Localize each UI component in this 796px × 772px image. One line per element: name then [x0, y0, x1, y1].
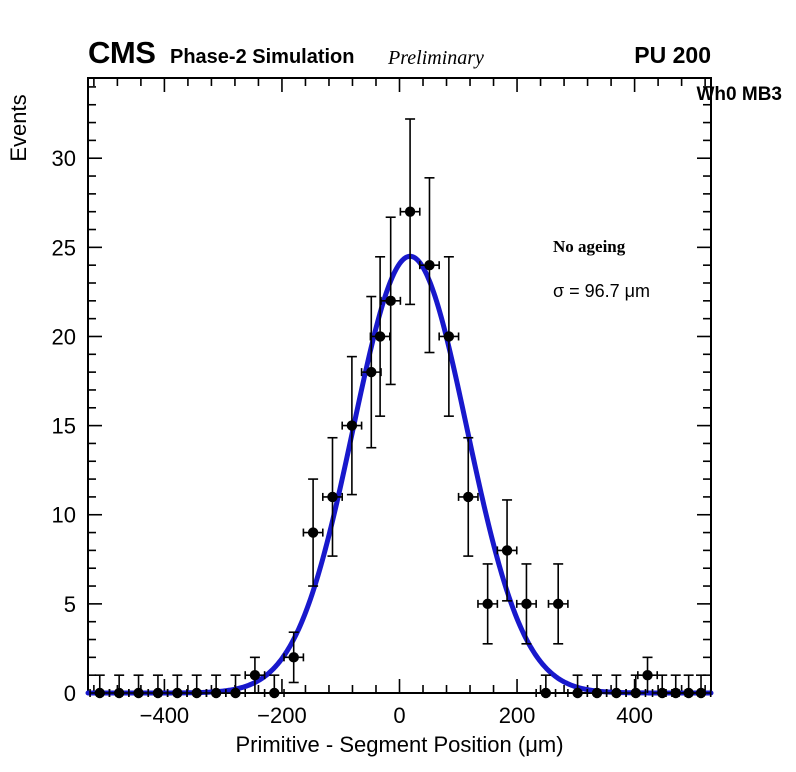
x-tick-label: 400 [616, 703, 653, 728]
y-tick-label: 0 [64, 681, 76, 706]
y-tick-label: 10 [52, 503, 76, 528]
data-points-group [90, 119, 711, 698]
data-point [439, 257, 458, 416]
y-tick-label: 5 [64, 592, 76, 617]
y-axis-title: Events [6, 68, 32, 188]
plot-frame [88, 78, 711, 693]
region-label: Wh0 MB3 [697, 84, 783, 106]
fit-curve-path [88, 256, 711, 693]
sigma-value-label: σ = 96.7 μm [553, 281, 650, 302]
x-tick-label: 0 [393, 703, 405, 728]
data-point [536, 675, 555, 698]
data-point [370, 257, 389, 416]
data-point [517, 564, 536, 644]
gaussian-fit-curve [88, 256, 711, 693]
plot-svg: −400−2000200400 051015202530 [0, 0, 796, 772]
data-point [381, 217, 400, 384]
x-tick-label: 200 [499, 703, 536, 728]
data-point [265, 675, 284, 698]
x-tick-labels: −400−2000200400 [140, 703, 653, 728]
y-axis-ticks [88, 87, 711, 693]
ageing-label: No ageing [553, 237, 625, 257]
data-point [497, 500, 516, 601]
data-point [548, 564, 567, 644]
data-point [206, 675, 225, 698]
x-axis-title: Primitive - Segment Position (μm) [88, 732, 711, 758]
y-tick-label: 25 [52, 235, 76, 260]
data-point [284, 632, 303, 682]
y-tick-label: 30 [52, 146, 76, 171]
data-point [587, 675, 606, 698]
data-point [478, 564, 497, 644]
x-tick-label: −200 [257, 703, 307, 728]
x-tick-label: −400 [140, 703, 190, 728]
data-point [400, 119, 419, 304]
y-tick-labels: 051015202530 [52, 146, 76, 706]
y-tick-label: 20 [52, 324, 76, 349]
data-point [420, 178, 439, 353]
x-axis-ticks [94, 78, 705, 693]
chart-canvas: CMS Phase-2 Simulation Preliminary PU 20… [0, 0, 796, 772]
data-point [638, 657, 657, 693]
y-tick-label: 15 [52, 414, 76, 439]
